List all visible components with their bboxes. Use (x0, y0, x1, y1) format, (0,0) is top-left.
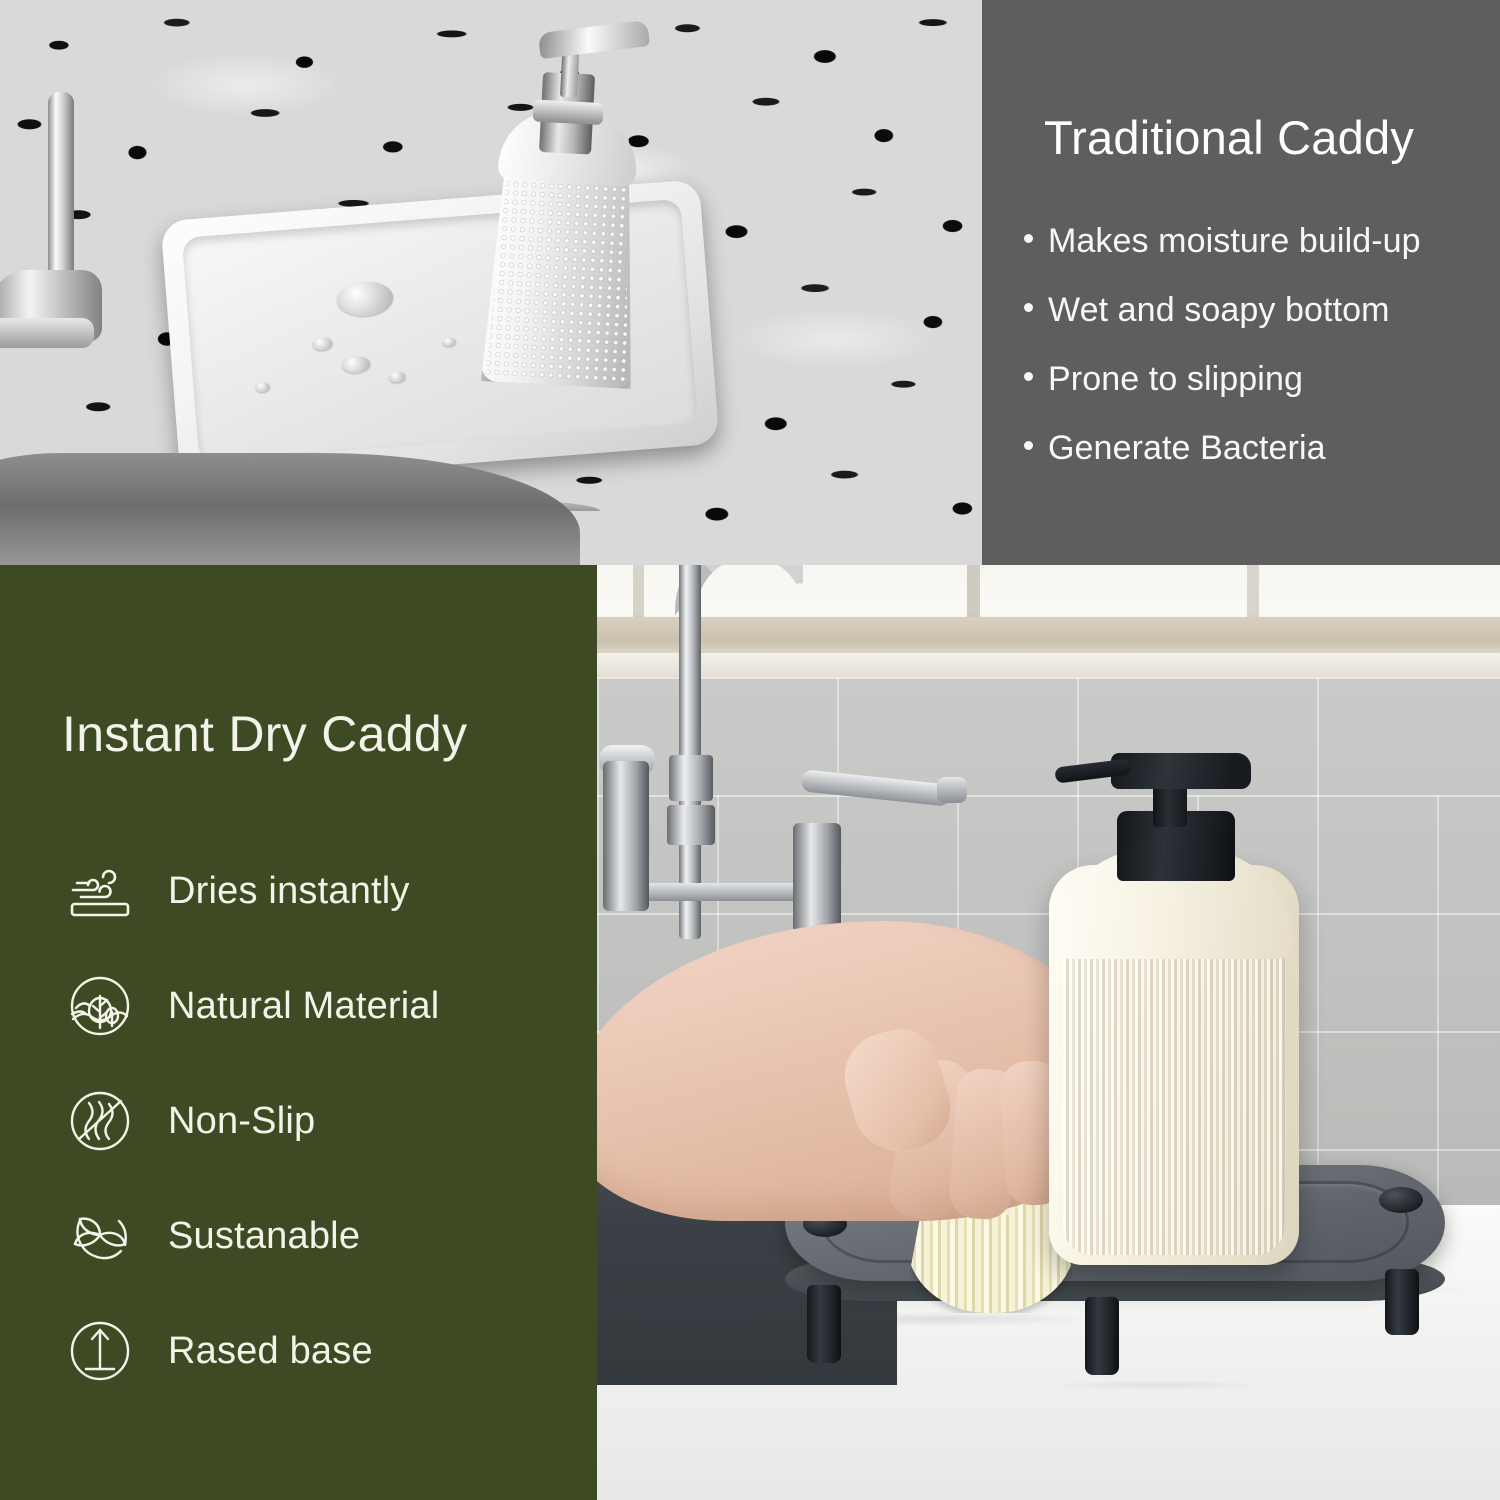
list-item: Generate Bacteria (1024, 429, 1494, 468)
feature-non-slip: Non-Slip (64, 1085, 584, 1157)
bullet-dot-icon (1024, 441, 1033, 450)
pump-head (538, 20, 650, 59)
air-dry-slab-icon (64, 855, 136, 927)
faucet-lever-knob (937, 777, 967, 803)
after-photo-panel (597, 565, 1500, 1500)
feature-rased-base: Rased base (64, 1315, 584, 1387)
feature-label: Sustanable (168, 1215, 360, 1258)
bullet-dot-icon (1024, 372, 1033, 381)
bullet-dot-icon (1024, 303, 1033, 312)
water-droplet (342, 356, 371, 374)
feature-sustanable: Sustanable (64, 1200, 584, 1272)
dispenser-collar (533, 99, 604, 125)
traditional-caddy-title: Traditional Caddy (1044, 110, 1414, 165)
list-item: Prone to slipping (1024, 360, 1494, 399)
caddy-top-nub (1379, 1187, 1423, 1213)
instant-dry-caddy-panel: Instant Dry Caddy Dries instantly (0, 565, 597, 1500)
before-photo-panel (0, 0, 982, 565)
feature-label: Non-Slip (168, 1100, 315, 1143)
list-item: Makes moisture build-up (1024, 222, 1494, 261)
raised-height-arrow-circle-icon (64, 1315, 136, 1387)
hobnail-soap-dispenser (460, 21, 659, 400)
bullet-dot-icon (1024, 234, 1033, 243)
instant-dry-features-list: Dries instantly (64, 855, 584, 1430)
list-item-label: Makes moisture build-up (1048, 222, 1421, 261)
feature-label: Rased base (168, 1330, 373, 1373)
hobnail-texture (485, 172, 638, 384)
pump-head (1111, 753, 1251, 789)
faucet-collar-upper (669, 755, 713, 801)
caddy-raised-leg (1385, 1269, 1419, 1335)
list-item: Wet and soapy bottom (1024, 291, 1494, 330)
feature-natural-material: Natural Material (64, 970, 584, 1042)
water-droplet (389, 371, 406, 383)
chrome-faucet-spout (48, 92, 74, 292)
faucet-valve-left (603, 761, 649, 911)
instant-dry-caddy-title: Instant Dry Caddy (62, 705, 467, 763)
traditional-caddy-drawbacks-list: Makes moisture build-up Wet and soapy bo… (1024, 222, 1494, 498)
dispenser-ribbed-texture (1063, 937, 1285, 1255)
list-item-label: Prone to slipping (1048, 360, 1303, 399)
list-item-label: Generate Bacteria (1048, 429, 1326, 468)
recycle-leaves-icon (64, 1200, 136, 1272)
traditional-caddy-panel: Traditional Caddy Makes moisture build-u… (982, 0, 1500, 565)
list-item-label: Wet and soapy bottom (1048, 291, 1390, 330)
faucet-collar-lower (667, 805, 715, 845)
chrome-faucet-nut (0, 318, 94, 348)
non-slip-wave-circle-icon (64, 1085, 136, 1157)
tree-landscape-circle-icon (64, 970, 136, 1042)
window-sill-front (597, 653, 1500, 679)
feature-label: Natural Material (168, 985, 439, 1028)
feature-label: Dries instantly (168, 870, 410, 913)
infographic-canvas: Traditional Caddy Makes moisture build-u… (0, 0, 1500, 1500)
water-droplet (312, 336, 333, 351)
faucet-valve-right (793, 823, 841, 933)
cream-ribbed-soap-dispenser (1049, 745, 1299, 1265)
feature-dries-instantly: Dries instantly (64, 855, 584, 927)
caddy-raised-leg (807, 1285, 841, 1363)
water-droplet (336, 280, 394, 318)
water-droplet (255, 382, 270, 393)
water-droplet (442, 337, 456, 347)
